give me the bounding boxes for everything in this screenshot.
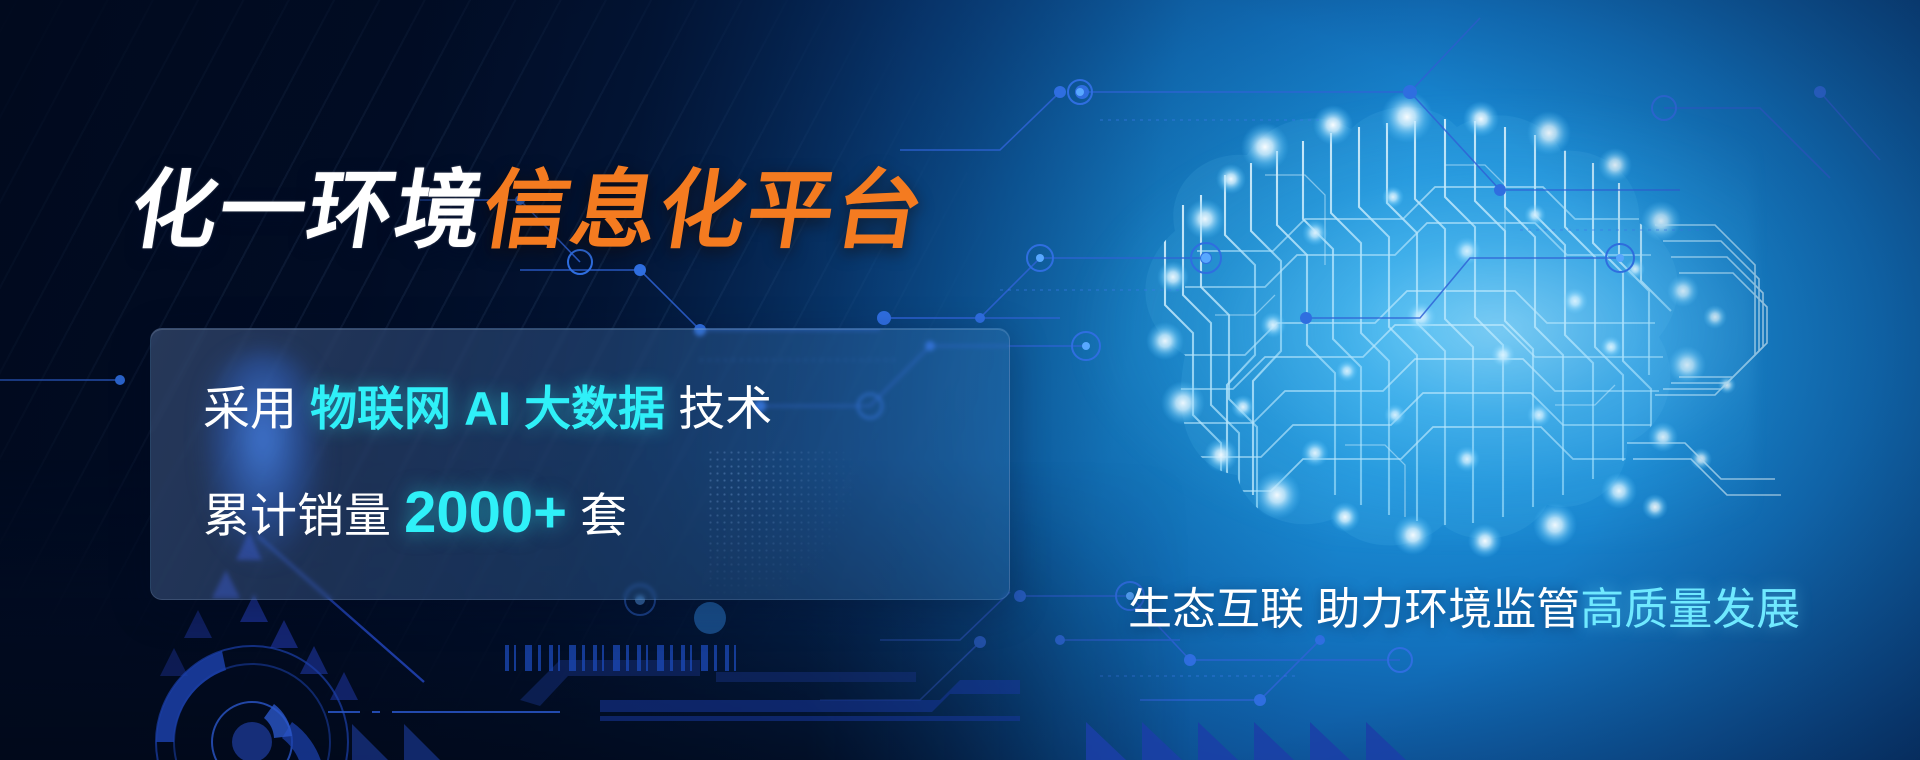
page-title: 化一环境信息化平台: [125, 168, 931, 254]
tagline-cyan: 高质量发展: [1580, 585, 1800, 634]
card-line-technology: 采用 物联网 AI 大数据 技术: [203, 385, 1009, 432]
card-line2-suffix: 套: [580, 489, 627, 542]
card-line1-prefix: 采用: [203, 382, 297, 435]
barcode-strip: [505, 645, 745, 671]
card-sales-number: 2000+: [404, 480, 567, 545]
banner-root: 化一环境信息化平台 采用 物联网 AI 大数据 技术 累计销量 2000+ 套 …: [0, 0, 1920, 760]
feature-card: 采用 物联网 AI 大数据 技术 累计销量 2000+ 套: [150, 328, 1010, 600]
card-line-sales: 累计销量 2000+ 套: [203, 484, 1009, 542]
bottom-chevrons: [1086, 722, 1406, 760]
card-text-group: 采用 物联网 AI 大数据 技术 累计销量 2000+ 套: [151, 329, 1009, 542]
card-line1-suffix: 技术: [678, 382, 772, 435]
tagline-white: 生态互联 助力环境监管: [1128, 585, 1580, 634]
page-title-orange: 信息化平台: [476, 161, 932, 261]
tagline: 生态互联 助力环境监管高质量发展: [1128, 588, 1800, 632]
page-title-white: 化一环境: [124, 161, 492, 261]
card-line1-highlight: 物联网 AI 大数据: [310, 382, 665, 435]
card-line2-prefix: 累计销量: [203, 489, 391, 542]
